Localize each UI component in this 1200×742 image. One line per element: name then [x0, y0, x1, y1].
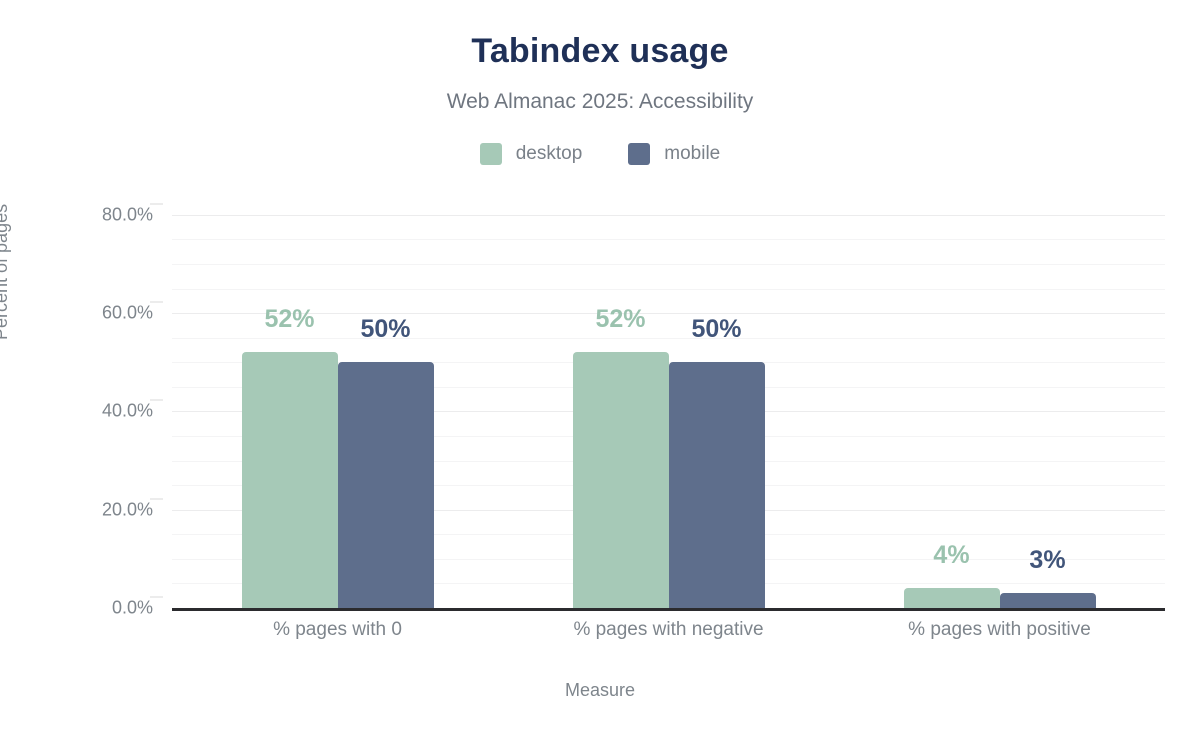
- y-axis-tick-mark: [150, 498, 163, 499]
- bar-value-label: 4%: [933, 541, 969, 570]
- gridline: [172, 338, 1165, 339]
- gridline: [172, 215, 1165, 216]
- gridline: [172, 289, 1165, 290]
- bar-mobile[interactable]: [1000, 593, 1096, 608]
- legend-item-mobile[interactable]: mobile: [628, 143, 720, 165]
- bar-desktop[interactable]: [573, 352, 669, 608]
- x-axis-line: [172, 608, 1165, 611]
- legend-label-desktop: desktop: [516, 143, 583, 165]
- x-axis-label: Measure: [0, 680, 1200, 701]
- bar-value-label: 3%: [1029, 546, 1065, 575]
- y-axis-tick-label: 40.0%: [0, 401, 153, 422]
- y-axis-tick-mark: [150, 203, 163, 204]
- gridline: [172, 313, 1165, 314]
- gridline: [172, 239, 1165, 240]
- chart-legend: desktop mobile: [0, 143, 1200, 165]
- x-axis-tick-label: % pages with negative: [573, 619, 763, 641]
- bar-value-label: 50%: [360, 315, 410, 344]
- y-axis-tick-label: 80.0%: [0, 204, 153, 225]
- legend-label-mobile: mobile: [664, 143, 720, 165]
- y-axis-tick-mark: [150, 400, 163, 401]
- bar-desktop[interactable]: [242, 352, 338, 608]
- legend-swatch-desktop: [480, 143, 502, 165]
- x-axis-tick-label: % pages with positive: [908, 619, 1091, 641]
- bar-value-label: 52%: [264, 305, 314, 334]
- y-axis-tick-mark: [150, 597, 163, 598]
- bar-desktop[interactable]: [904, 588, 1000, 608]
- y-axis-tick-label: 0.0%: [0, 598, 153, 619]
- chart-container: Tabindex usage Web Almanac 2025: Accessi…: [0, 0, 1200, 742]
- bar-value-label: 50%: [691, 315, 741, 344]
- plot-area: 52%50%52%50%4%3%: [172, 205, 1165, 608]
- chart-subtitle: Web Almanac 2025: Accessibility: [0, 90, 1200, 114]
- y-axis-tick-label: 60.0%: [0, 303, 153, 324]
- y-axis-tick-label: 20.0%: [0, 499, 153, 520]
- legend-swatch-mobile: [628, 143, 650, 165]
- bar-mobile[interactable]: [669, 362, 765, 608]
- bar-mobile[interactable]: [338, 362, 434, 608]
- legend-item-desktop[interactable]: desktop: [480, 143, 583, 165]
- gridline: [172, 264, 1165, 265]
- bar-value-label: 52%: [595, 305, 645, 334]
- chart-title: Tabindex usage: [0, 32, 1200, 71]
- x-axis-tick-label: % pages with 0: [273, 619, 402, 641]
- y-axis-tick-mark: [150, 302, 163, 303]
